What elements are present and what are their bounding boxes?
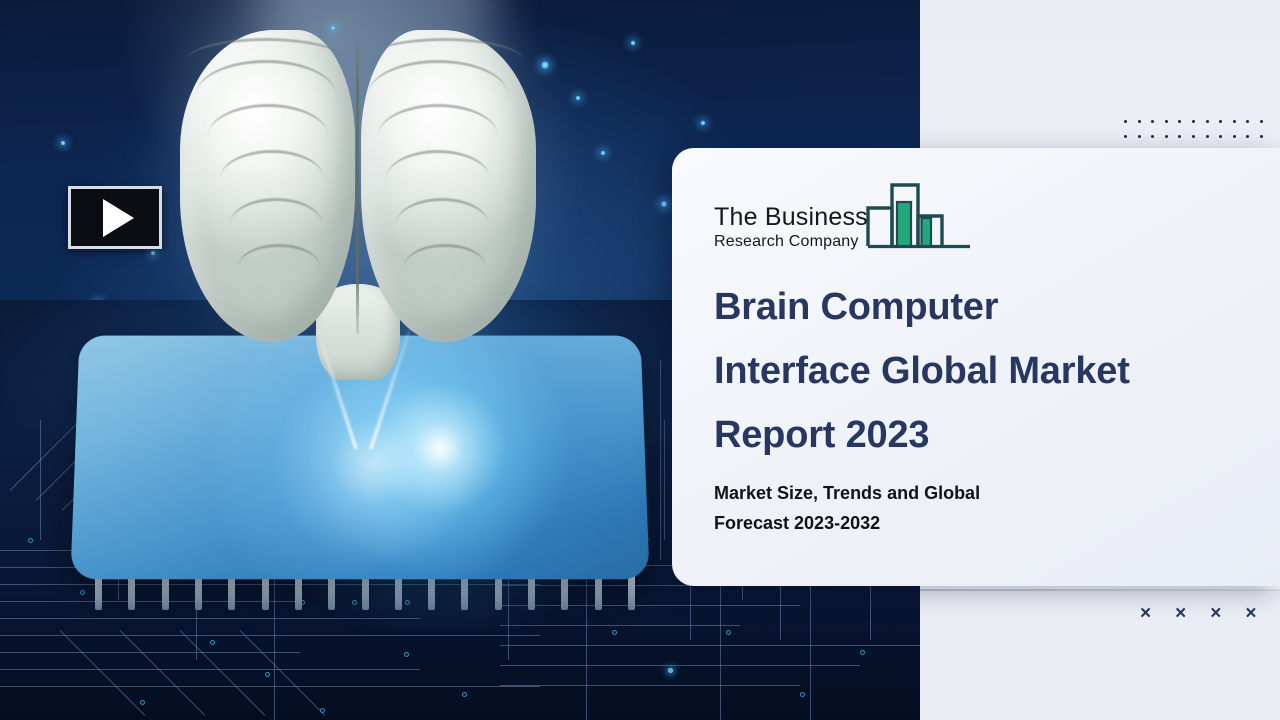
circuit-trace <box>500 625 740 626</box>
circuit-pad <box>800 692 805 697</box>
brain-gyrus <box>186 38 346 84</box>
subtitle-line-1: Market Size, Trends and Global <box>714 479 1240 508</box>
x-mark: × <box>1140 603 1151 625</box>
circuit-pad <box>140 700 145 705</box>
circuit-trace <box>500 665 860 666</box>
page-title: Brain Computer Interface Global Market R… <box>714 276 1240 467</box>
circuit-pad <box>612 630 617 635</box>
title-line-3: Report 2023 <box>714 404 1240 468</box>
title-line-2: Interface Global Market <box>714 340 1240 404</box>
x-mark: × <box>1245 603 1256 625</box>
brain-gyrus <box>364 38 524 84</box>
circuit-trace <box>0 635 540 636</box>
brain-gyrus <box>230 198 322 250</box>
subtitle-line-2: Forecast 2023-2032 <box>714 509 1240 538</box>
play-button[interactable] <box>68 186 162 249</box>
circuit-trace <box>0 669 420 670</box>
circuit-trace <box>660 360 661 560</box>
circuit-trace <box>0 618 420 619</box>
circuit-pad <box>80 590 85 595</box>
circuit-trace <box>0 652 300 653</box>
x-marks-decoration: ×××× <box>1140 603 1256 625</box>
page-subtitle: Market Size, Trends and Global Forecast … <box>714 479 1240 537</box>
logo-text: The Business Research Company <box>714 205 868 256</box>
logo-line-2: Research Company <box>714 234 868 250</box>
circuit-pad <box>320 708 325 713</box>
bar-chart-logo-icon <box>866 180 972 254</box>
title-card: The Business Research Company Brain Comp… <box>672 148 1280 586</box>
circuit-pad <box>860 650 865 655</box>
circuit-trace <box>500 685 800 686</box>
slide-canvas: ×××× The Business Research Co <box>0 0 1280 720</box>
circuit-trace <box>40 420 41 540</box>
x-mark: × <box>1210 603 1221 625</box>
brain-gyrus <box>396 198 488 250</box>
brain-fissure <box>356 34 359 334</box>
title-line-1: Brain Computer <box>714 276 1240 340</box>
circuit-pad <box>726 630 731 635</box>
brain-gyrus <box>404 244 486 290</box>
circuit-trace <box>500 645 920 646</box>
x-mark: × <box>1175 603 1186 625</box>
circuit-pad <box>265 672 270 677</box>
brain-graphic <box>178 12 538 357</box>
circuit-pad <box>462 692 467 697</box>
company-logo: The Business Research Company <box>714 182 1240 256</box>
play-icon <box>103 199 134 237</box>
dot-grid-decoration <box>1124 116 1274 146</box>
circuit-trace <box>0 686 540 687</box>
brain-gyrus <box>238 244 320 290</box>
circuit-pad <box>404 652 409 657</box>
circuit-trace <box>664 420 665 540</box>
circuit-pad <box>28 538 33 543</box>
logo-line-1: The Business <box>714 205 868 230</box>
circuit-pad <box>210 640 215 645</box>
circuit-pad <box>668 668 673 673</box>
